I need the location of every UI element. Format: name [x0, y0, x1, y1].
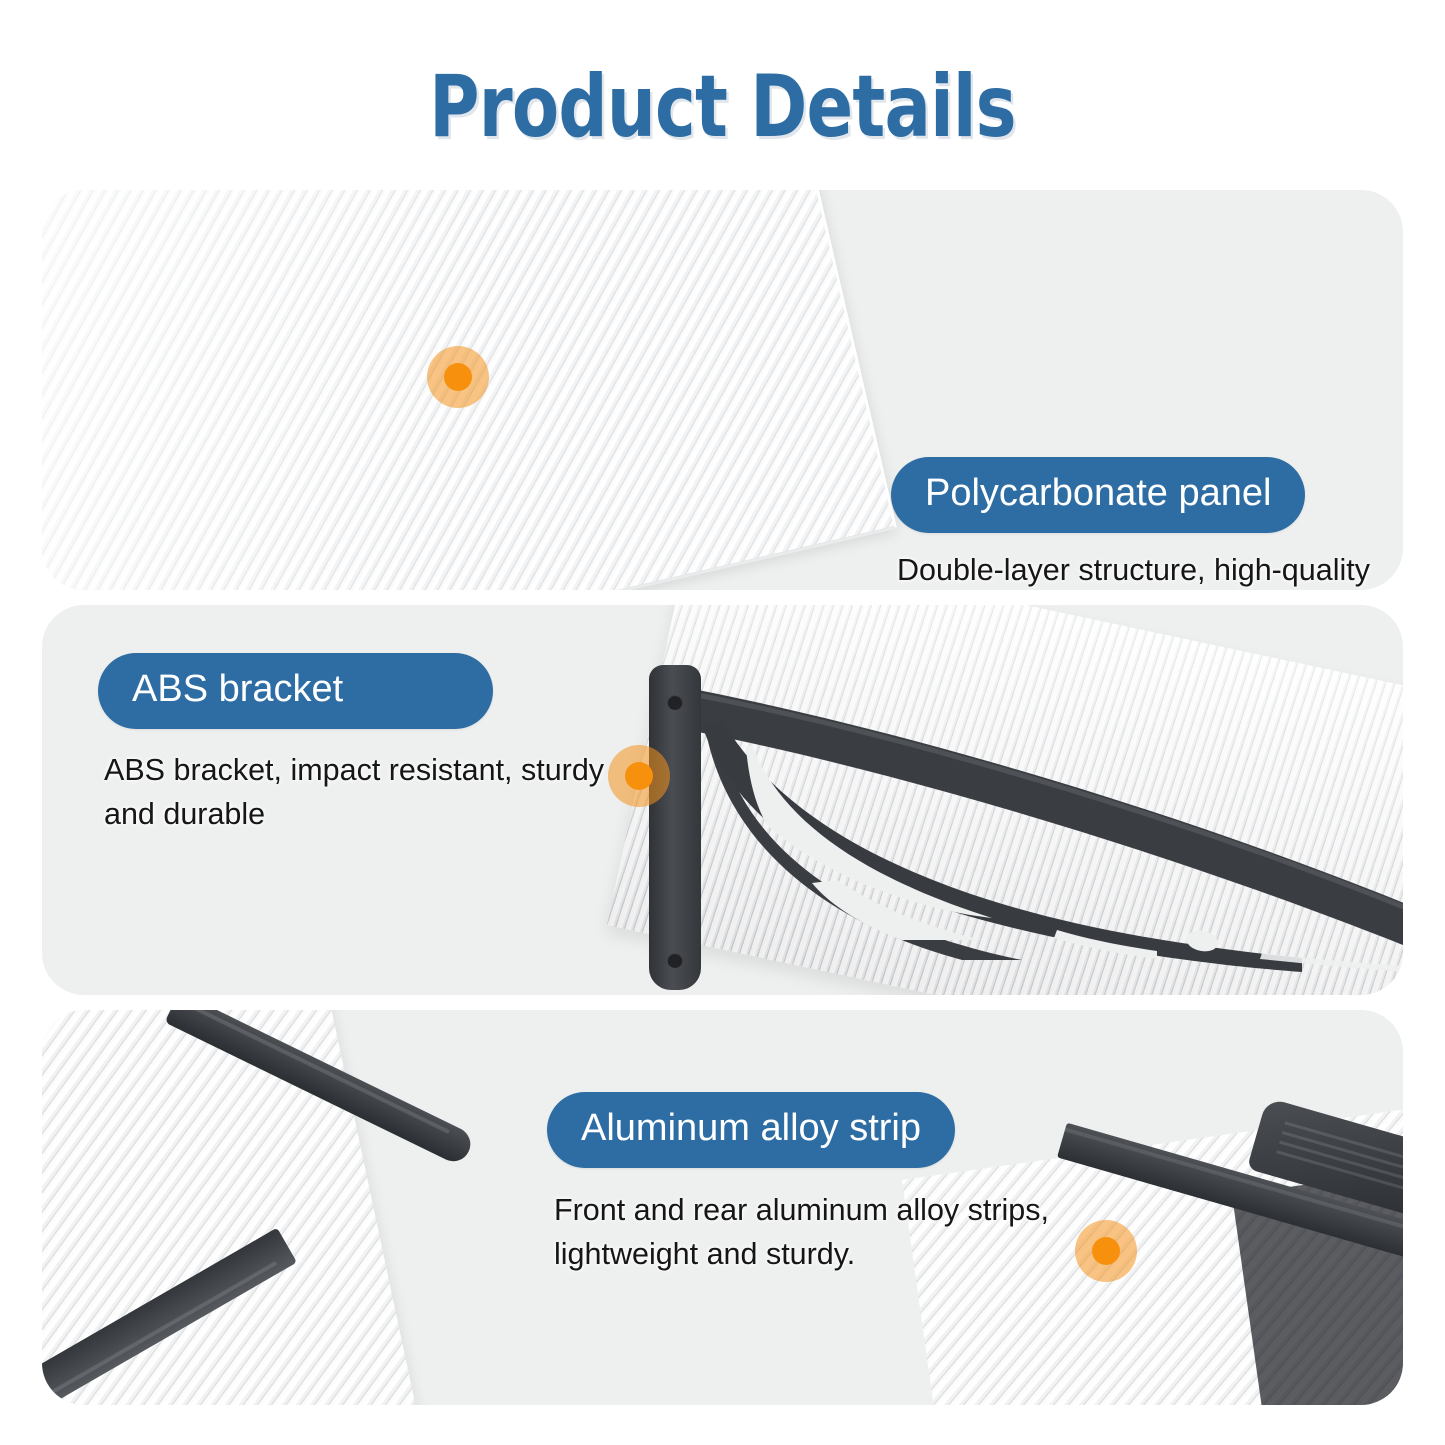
screw-hole-icon [668, 953, 683, 968]
panel-card-aluminum-strip: Aluminum alloy strip Front and rear alum… [42, 1010, 1403, 1405]
description-polycarbonate-panel: Double-layer structure, high-quality pol… [897, 548, 1403, 590]
panel-card-abs-bracket: ABS bracket ABS bracket, impact resistan… [42, 605, 1403, 995]
panel-card-polycarbonate: Polycarbonate panel Double-layer structu… [42, 190, 1403, 590]
product-details-page: Product Details Polycarbonate panel Doub… [0, 0, 1445, 1445]
callout-dot-icon-aluminum-strip [1075, 1220, 1137, 1282]
bracket-wall-plate [649, 665, 701, 990]
description-abs-bracket: ABS bracket, impact resistant, sturdy an… [104, 748, 624, 836]
screw-hole-icon [668, 695, 683, 710]
label-aluminum-alloy-strip: Aluminum alloy strip [547, 1092, 955, 1168]
page-title: Product Details [145, 57, 1301, 157]
description-aluminum-alloy-strip: Front and rear aluminum alloy strips, li… [554, 1188, 1094, 1276]
callout-dot-icon-polycarbonate [427, 346, 489, 408]
label-abs-bracket: ABS bracket [98, 653, 493, 729]
label-polycarbonate-panel: Polycarbonate panel [891, 457, 1305, 533]
callout-dot-icon-abs-bracket [608, 745, 670, 807]
bracket-truss [662, 675, 1403, 975]
